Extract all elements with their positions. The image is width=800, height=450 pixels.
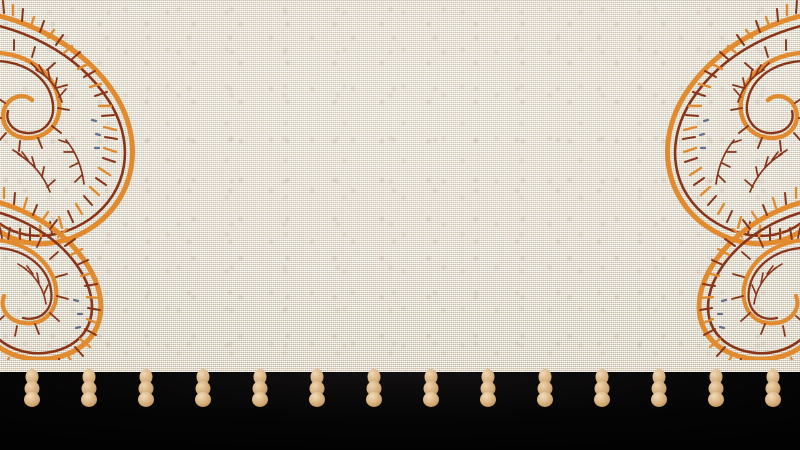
tassel [696,372,736,446]
tassel [753,372,793,446]
tassel-knot [594,402,611,416]
tassel [525,372,565,446]
tassel [69,372,109,446]
paisley-corner-right-icon [534,0,800,360]
slide-canvas: طراحی فرآیندهای تولید گاز سنتز با هدف به… [0,0,800,450]
tassel-knot [252,402,269,416]
tassel [582,372,622,446]
tassel [12,372,52,446]
tassel-knot [366,402,383,416]
tassel-knot [138,402,155,416]
tassel [183,372,223,446]
tassel [468,372,508,446]
tassel [639,372,679,446]
tassel-knot [423,402,440,416]
tassel [126,372,166,446]
tassel-knot [24,402,41,416]
tassel [411,372,451,446]
fringe-band [0,372,800,450]
tassel [354,372,394,446]
tassel-knot [309,402,326,416]
tassel-knot [651,402,668,416]
tassel-knot [81,402,98,416]
tassel [297,372,337,446]
tassel-knot [708,402,725,416]
tassel-knot [480,402,497,416]
tassel-knot [195,402,212,416]
tassel [240,372,280,446]
tassel-knot [765,402,782,416]
tassel-knot [537,402,554,416]
paisley-corner-left-icon [0,0,266,360]
